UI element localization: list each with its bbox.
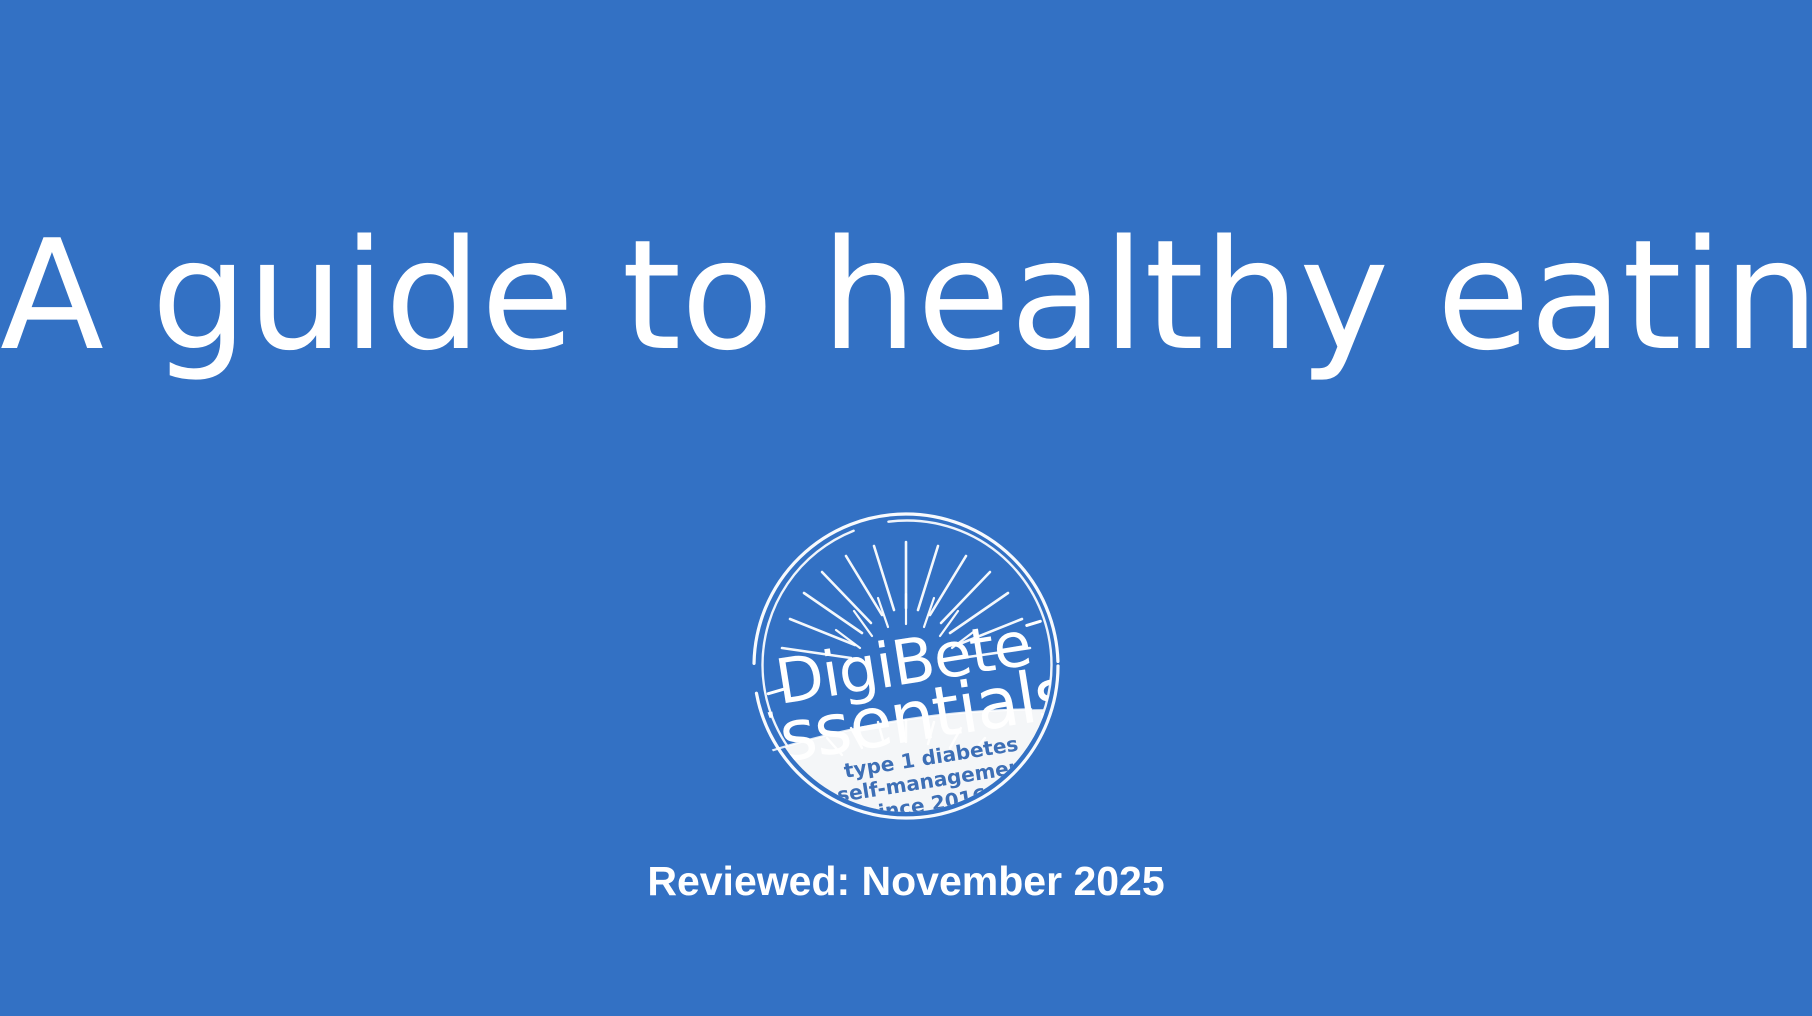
title-container: A guide to healthy eating xyxy=(0,216,1812,376)
digibete-essentials-logo: DigiBete Essentials type 1 diabetes self… xyxy=(746,506,1066,826)
page-title: A guide to healthy eating xyxy=(0,216,1812,376)
logo-badge-icon: DigiBete Essentials type 1 diabetes self… xyxy=(746,506,1066,826)
reviewed-date: Reviewed: November 2025 xyxy=(0,858,1812,905)
reviewed-container: Reviewed: November 2025 xyxy=(0,858,1812,905)
slide-canvas: A guide to healthy eating xyxy=(0,0,1812,1016)
